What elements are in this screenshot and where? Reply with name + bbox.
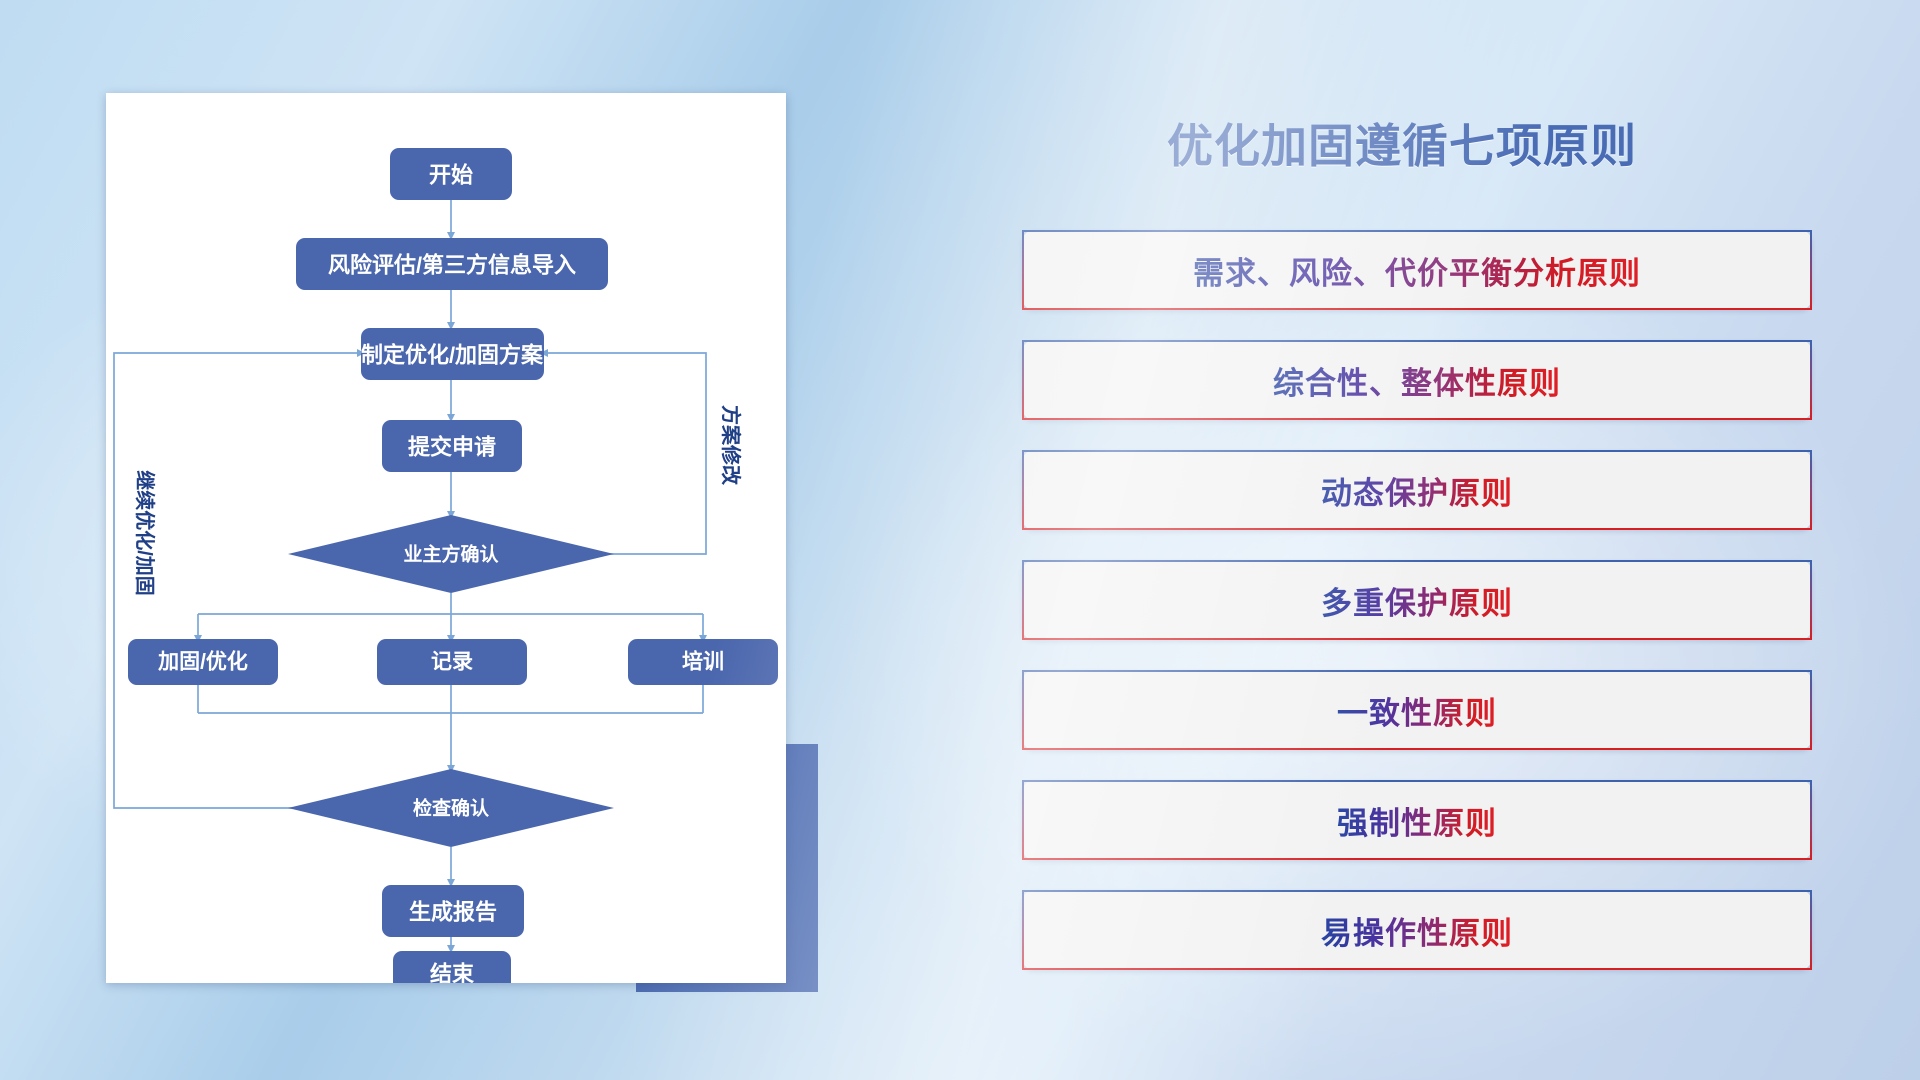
flow-node-reinforce-label: 加固/优化 <box>157 650 248 674</box>
flow-node-submit-label: 提交申请 <box>408 435 496 460</box>
principle-card-label: 强制性原则 <box>1337 798 1497 843</box>
principle-card-label: 一致性原则 <box>1337 688 1497 733</box>
principle-card[interactable]: 需求、风险、代价平衡分析原则 <box>1022 230 1812 310</box>
flow-node-reinforce[interactable]: 加固/优化 <box>128 639 278 685</box>
flow-node-plan[interactable]: 制定优化/加固方案 <box>361 328 544 380</box>
flow-node-end-label: 结束 <box>430 962 475 984</box>
principle-card-label: 综合性、整体性原则 <box>1273 358 1561 403</box>
flow-node-report-label: 生成报告 <box>409 900 497 925</box>
flow-node-training[interactable]: 培训 <box>628 639 778 685</box>
principle-card[interactable]: 易操作性原则 <box>1022 890 1812 970</box>
page-title: 优化加固遵循七项原则 <box>1022 110 1782 176</box>
flow-node-plan-label: 制定优化/加固方案 <box>361 343 544 368</box>
flow-node-training-label: 培训 <box>682 650 724 674</box>
principles-list: 需求、风险、代价平衡分析原则 综合性、整体性原则 动态保护原则 多重保护原则 一… <box>1022 230 1812 1000</box>
flow-node-start-label: 开始 <box>429 163 473 188</box>
principle-card[interactable]: 一致性原则 <box>1022 670 1812 750</box>
flow-node-risk-assessment-label: 风险评估/第三方信息导入 <box>328 253 576 278</box>
slide-root: 开始 风险评估/第三方信息导入 制定优化/加固方案 提交申请 <box>0 0 1920 1080</box>
principle-card[interactable]: 多重保护原则 <box>1022 560 1812 640</box>
flow-node-start[interactable]: 开始 <box>390 148 512 200</box>
flow-edge-label-continue-optimize: 继续优化/加固 <box>133 470 157 596</box>
flow-node-record[interactable]: 记录 <box>377 639 527 685</box>
flowchart-svg: 开始 风险评估/第三方信息导入 制定优化/加固方案 提交申请 <box>106 93 786 983</box>
flow-node-report[interactable]: 生成报告 <box>382 885 524 937</box>
flow-nodes: 开始 风险评估/第三方信息导入 制定优化/加固方案 提交申请 <box>128 148 778 983</box>
flow-node-owner-confirm-label: 业主方确认 <box>403 543 498 566</box>
flow-node-end[interactable]: 结束 <box>393 951 511 983</box>
flow-node-owner-confirm[interactable]: 业主方确认 <box>288 515 614 593</box>
flow-node-check-label: 检查确认 <box>413 797 489 820</box>
flow-edge-label-plan-revise: 方案修改 <box>719 405 743 486</box>
flow-node-record-label: 记录 <box>431 651 473 674</box>
principle-card-label: 多重保护原则 <box>1321 578 1513 623</box>
principle-card-label: 需求、风险、代价平衡分析原则 <box>1193 248 1641 293</box>
flow-node-check[interactable]: 检查确认 <box>288 769 614 847</box>
principle-card-label: 易操作性原则 <box>1321 908 1513 953</box>
principle-card-label: 动态保护原则 <box>1321 468 1513 513</box>
flow-node-risk-assessment[interactable]: 风险评估/第三方信息导入 <box>296 238 608 290</box>
flowchart-card: 开始 风险评估/第三方信息导入 制定优化/加固方案 提交申请 <box>106 93 786 983</box>
principle-card[interactable]: 动态保护原则 <box>1022 450 1812 530</box>
principle-card[interactable]: 综合性、整体性原则 <box>1022 340 1812 420</box>
principle-card[interactable]: 强制性原则 <box>1022 780 1812 860</box>
flow-node-submit[interactable]: 提交申请 <box>382 420 522 472</box>
